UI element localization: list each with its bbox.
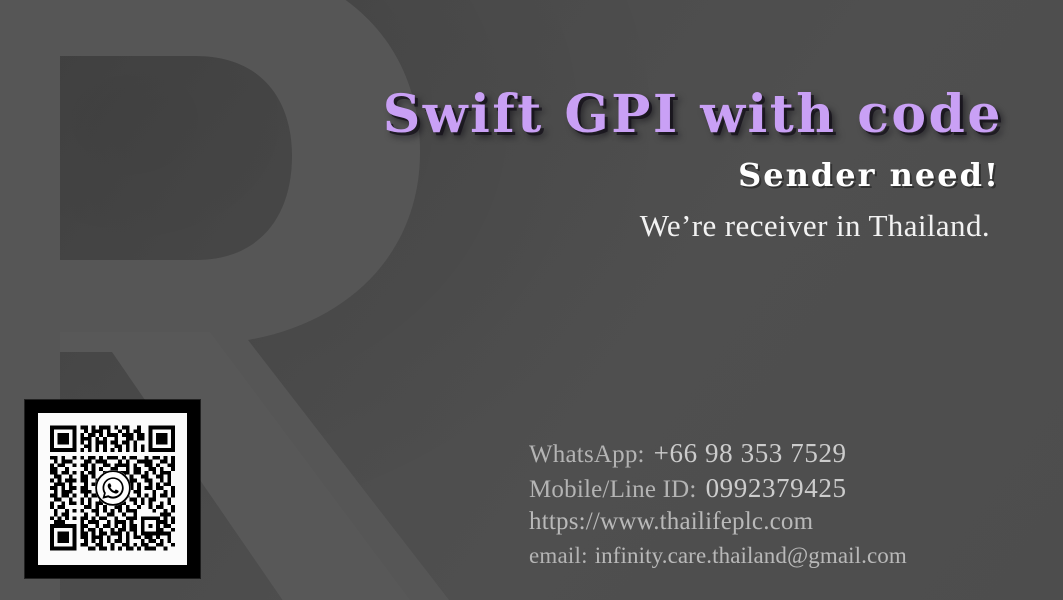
contact-row-email: email: infinity.care.thailand@gmail.com xyxy=(529,543,999,578)
qr-code-frame[interactable] xyxy=(25,400,200,578)
email-label: email: xyxy=(529,543,588,569)
website-link[interactable]: https://www.thailifeplc.com xyxy=(529,508,813,536)
email-address[interactable]: infinity.care.thailand@gmail.com xyxy=(595,543,907,569)
contact-row-website[interactable]: https://www.thailifeplc.com xyxy=(529,508,999,543)
contact-row-line-id: Mobile/Line ID: 0992379425 xyxy=(529,473,999,508)
banner-tagline: We’re receiver in Thailand. xyxy=(0,208,990,244)
qr-code-matrix xyxy=(50,425,175,551)
page-title: Swift GPI with code xyxy=(0,84,1003,145)
qr-code-paper xyxy=(38,413,187,565)
line-id-number[interactable]: 0992379425 xyxy=(706,473,847,504)
whatsapp-number[interactable]: +66 98 353 7529 xyxy=(654,438,847,469)
business-card-banner: Swift GPI with code Sender need! We’re r… xyxy=(0,0,1063,600)
contact-row-whatsapp: WhatsApp: +66 98 353 7529 xyxy=(529,438,999,473)
whatsapp-label: WhatsApp: xyxy=(529,441,645,469)
contact-block: WhatsApp: +66 98 353 7529 Mobile/Line ID… xyxy=(529,438,999,578)
line-id-label: Mobile/Line ID: xyxy=(529,476,697,504)
whatsapp-icon xyxy=(95,470,131,506)
banner-subtitle: Sender need! xyxy=(0,156,1000,194)
